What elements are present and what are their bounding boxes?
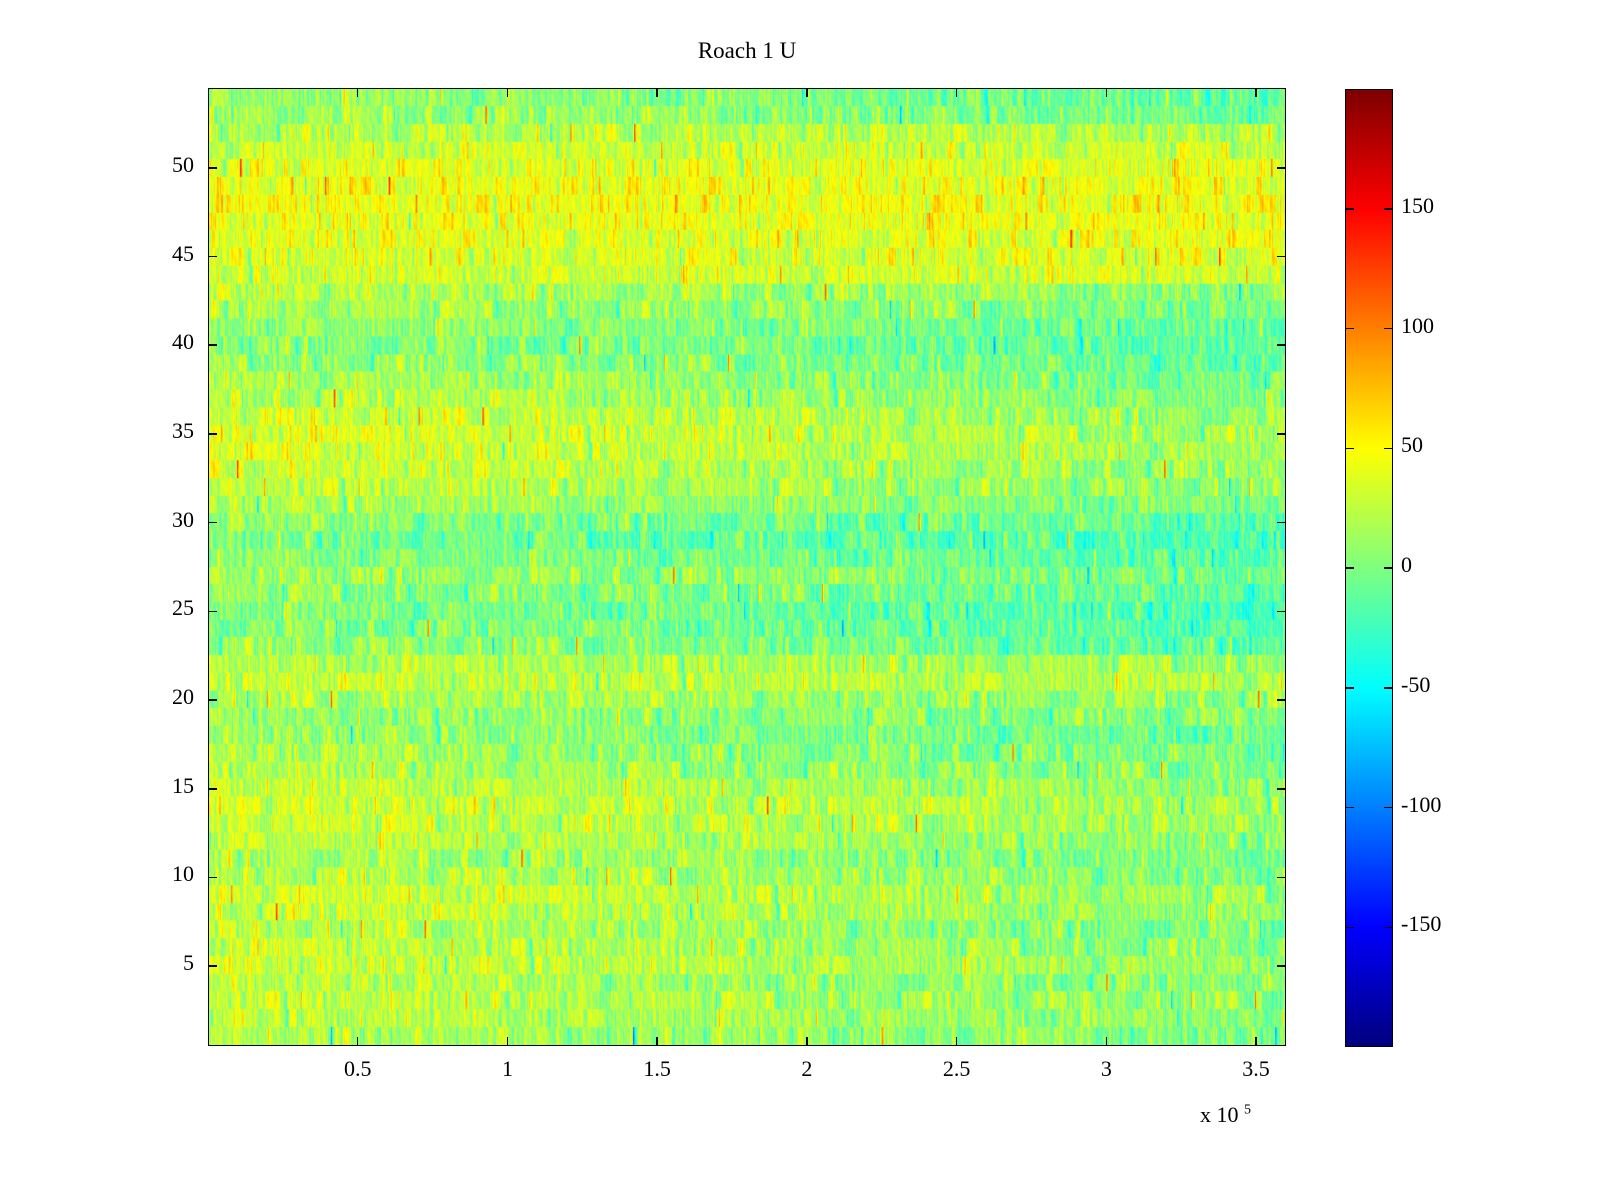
x-axis-tick <box>357 88 359 97</box>
x-axis-tick <box>1106 88 1108 97</box>
y-axis-tick <box>1277 788 1286 790</box>
y-axis-tick <box>1277 522 1286 524</box>
x-axis-tick <box>656 1037 658 1046</box>
x-axis-exponent-label: x 10 5 <box>1200 1102 1251 1128</box>
y-axis-tick <box>1277 433 1286 435</box>
x-axis-tick <box>806 1037 808 1046</box>
y-axis-tick-label: 50 <box>122 152 194 178</box>
colorbar[interactable]: 150100500-50-100-150 <box>1345 89 1393 1047</box>
colorbar-tick <box>1384 448 1393 450</box>
y-axis-tick <box>1277 699 1286 701</box>
colorbar-tick <box>1384 807 1393 809</box>
y-axis-tick <box>1277 167 1286 169</box>
y-axis-tick <box>1277 344 1286 346</box>
colorbar-tick <box>1384 687 1393 689</box>
y-axis-tick <box>208 256 217 258</box>
y-axis-tick-label: 35 <box>122 418 194 444</box>
colorbar-tick <box>1345 328 1354 330</box>
y-axis-tick <box>1277 611 1286 613</box>
colorbar-tick <box>1345 567 1354 569</box>
colorbar-tick <box>1384 567 1393 569</box>
x-axis-tick <box>956 1037 958 1046</box>
colorbar-tick <box>1384 927 1393 929</box>
x-axis-tick-label: 3.5 <box>1196 1056 1316 1082</box>
y-axis-tick <box>208 344 217 346</box>
x-axis-tick <box>1106 1037 1108 1046</box>
x-axis-tick-label: 0.5 <box>298 1056 418 1082</box>
x-axis-tick <box>357 1037 359 1046</box>
colorbar-tick-label: -50 <box>1401 672 1430 698</box>
x-axis-tick <box>656 88 658 97</box>
heatmap-axes[interactable] <box>208 88 1286 1046</box>
y-axis-tick <box>208 433 217 435</box>
x-axis-tick <box>806 88 808 97</box>
x-axis-tick-label: 1.5 <box>597 1056 717 1082</box>
colorbar-tick <box>1384 328 1393 330</box>
colorbar-tick <box>1384 208 1393 210</box>
colorbar-tick-label: 50 <box>1401 432 1423 458</box>
x-axis-tick <box>956 88 958 97</box>
x-axis-tick-label: 2 <box>747 1056 867 1082</box>
colorbar-tick <box>1345 807 1354 809</box>
y-axis-tick-label: 25 <box>122 595 194 621</box>
colorbar-tick <box>1345 208 1354 210</box>
colorbar-tick-label: 0 <box>1401 552 1412 578</box>
y-axis-tick <box>1277 965 1286 967</box>
y-axis-tick <box>1277 256 1286 258</box>
colorbar-tick <box>1345 448 1354 450</box>
x-axis-tick <box>507 88 509 97</box>
y-axis-tick <box>208 877 217 879</box>
figure-canvas: Roach 1 U 51015202530354045500.511.522.5… <box>0 0 1600 1200</box>
y-axis-tick-label: 10 <box>122 861 194 887</box>
y-axis-tick-label: 45 <box>122 241 194 267</box>
x-axis-tick-label: 1 <box>447 1056 567 1082</box>
colorbar-tick-label: -150 <box>1401 911 1441 937</box>
heatmap-image <box>209 89 1285 1045</box>
x-axis-tick-label: 2.5 <box>897 1056 1017 1082</box>
y-axis-tick <box>208 965 217 967</box>
colorbar-tick-label: -100 <box>1401 792 1441 818</box>
colorbar-tick <box>1345 927 1354 929</box>
x-axis-tick <box>1255 88 1257 97</box>
colorbar-tick <box>1345 687 1354 689</box>
colorbar-tick-label: 150 <box>1401 193 1434 219</box>
y-axis-tick <box>208 611 217 613</box>
y-axis-tick-label: 40 <box>122 329 194 355</box>
x-axis-tick <box>507 1037 509 1046</box>
y-axis-tick-label: 20 <box>122 684 194 710</box>
x-axis-tick <box>1255 1037 1257 1046</box>
y-axis-tick <box>208 167 217 169</box>
page-title: Roach 1 U <box>208 38 1286 64</box>
x-axis-tick-label: 3 <box>1046 1056 1166 1082</box>
y-axis-tick <box>208 699 217 701</box>
y-axis-tick-label: 30 <box>122 507 194 533</box>
y-axis-tick <box>1277 877 1286 879</box>
y-axis-tick <box>208 788 217 790</box>
y-axis-tick-label: 5 <box>122 950 194 976</box>
y-axis-tick-label: 15 <box>122 773 194 799</box>
y-axis-tick <box>208 522 217 524</box>
colorbar-tick-label: 100 <box>1401 313 1434 339</box>
